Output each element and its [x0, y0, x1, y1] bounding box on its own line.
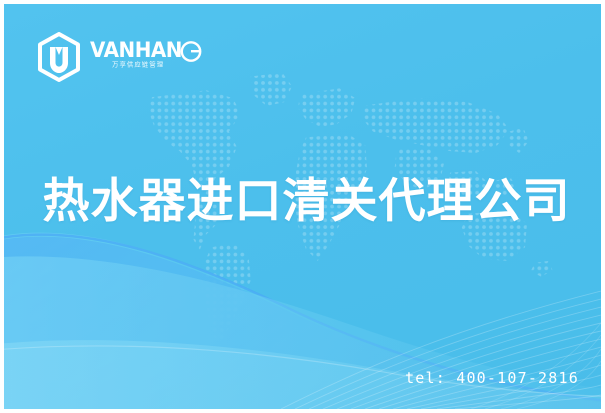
promo-banner: VANHAN 万享供应链管理 热水器进口清关代理公司 tel: 400-107-…: [0, 0, 605, 413]
vanhang-hexagon-icon: [36, 32, 82, 82]
svg-text:VANHAN: VANHAN: [90, 40, 182, 62]
brand-logo[interactable]: VANHAN 万享供应链管理: [36, 32, 202, 82]
page-title: 热水器进口清关代理公司: [4, 172, 605, 232]
brand-subtitle: 万享供应链管理: [112, 60, 164, 69]
contact-phone: tel: 400-107-2816: [405, 369, 579, 387]
brand-wordmark-block: VANHAN 万享供应链管理: [90, 40, 202, 74]
